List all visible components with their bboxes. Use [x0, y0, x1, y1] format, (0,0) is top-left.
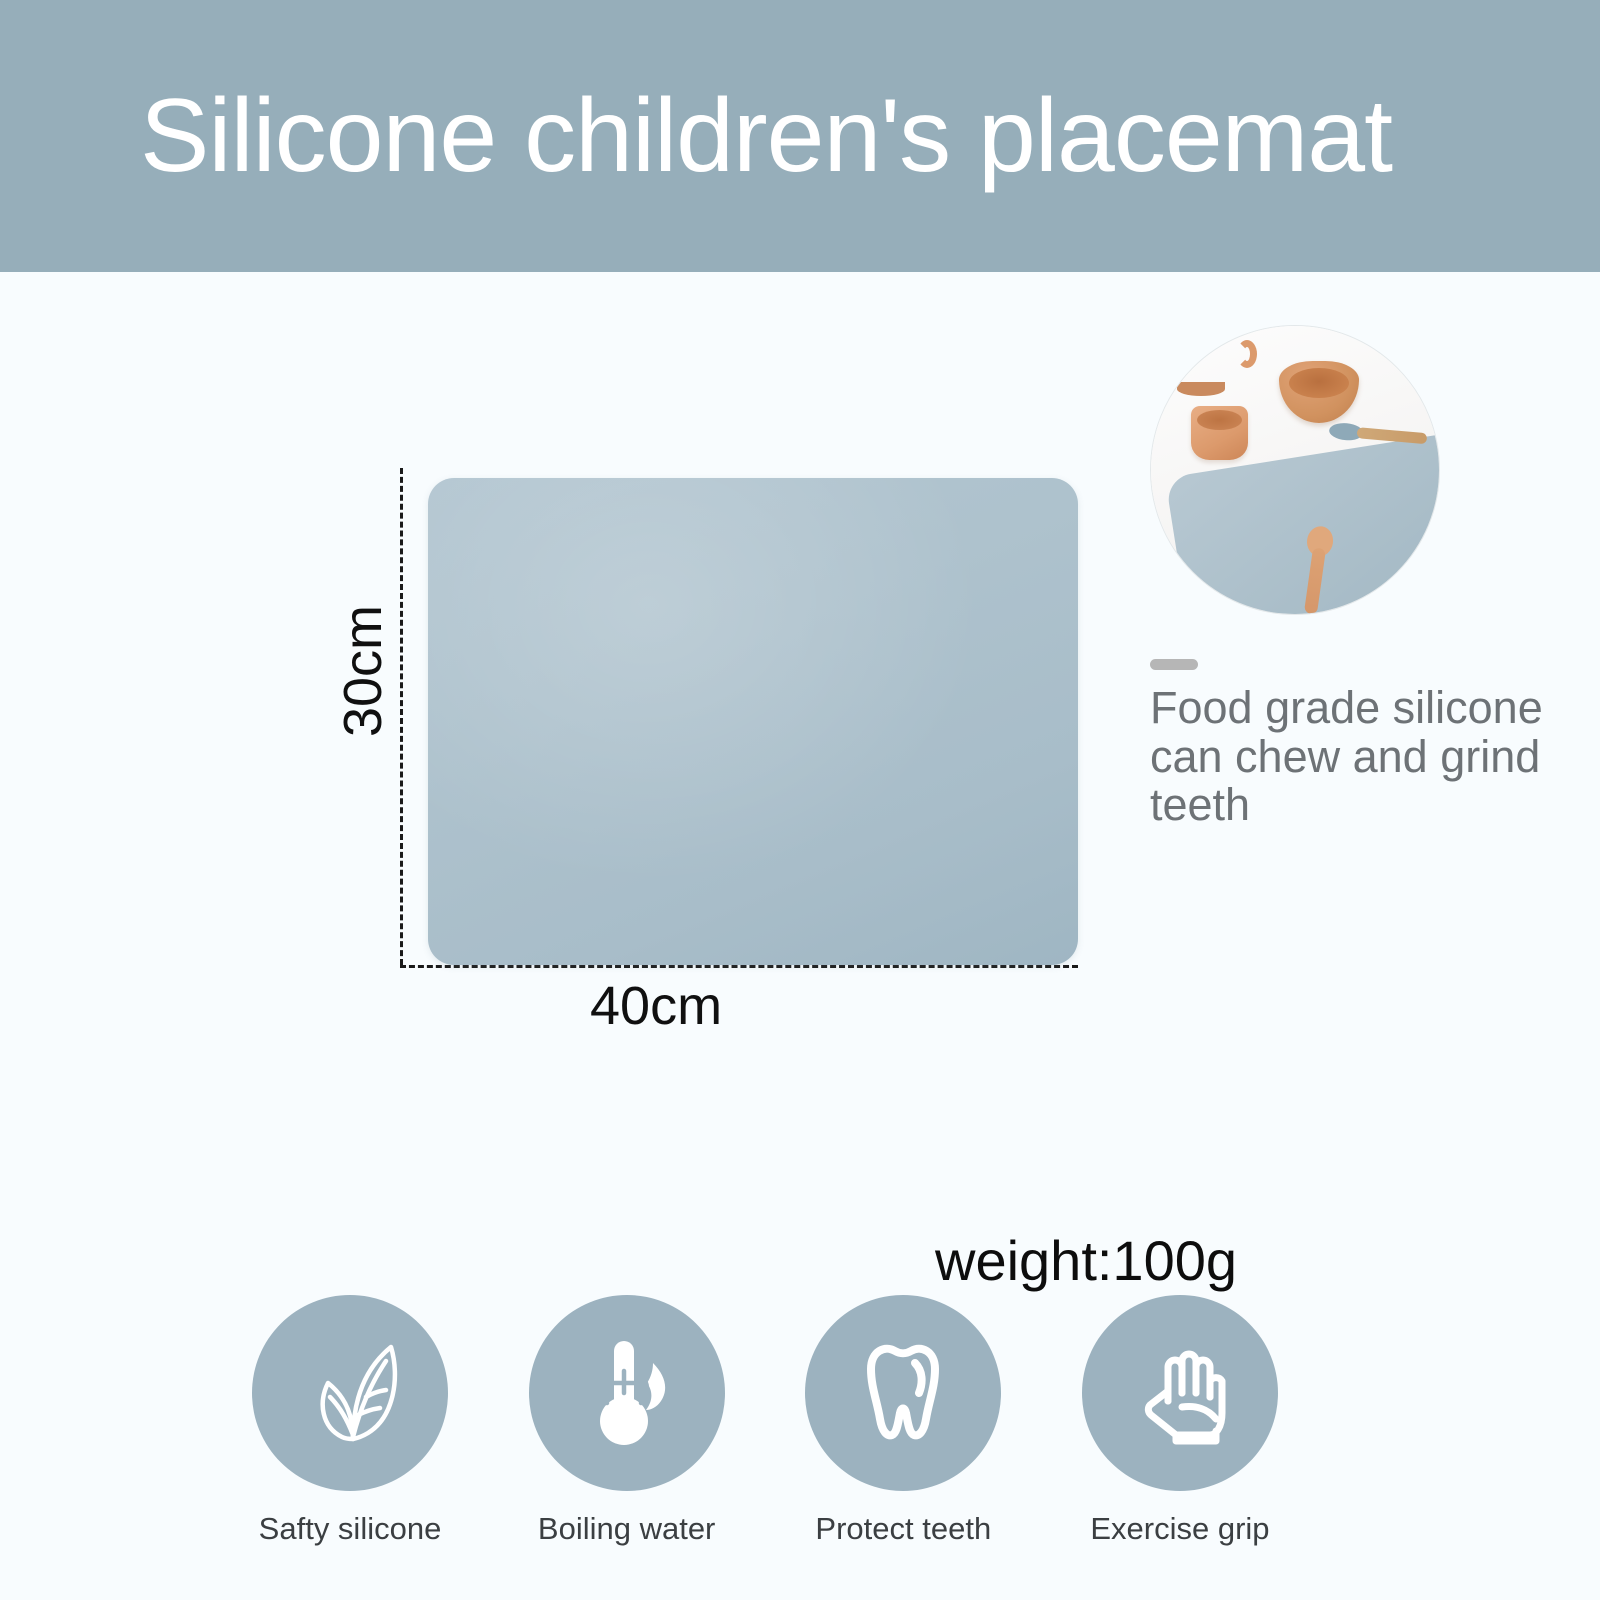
feature-item-boiling-water: Boiling water: [527, 1295, 727, 1585]
feature-circle: [805, 1295, 1001, 1491]
photo-cup-handle-right: [1237, 340, 1257, 368]
thermometer-flame-icon: [567, 1331, 687, 1456]
feature-label: Protect teeth: [815, 1511, 991, 1547]
dimension-line-vertical: [400, 468, 403, 965]
feature-item-safty-silicone: Safty silicone: [250, 1295, 450, 1585]
dimension-width-label: 40cm: [590, 975, 722, 1037]
page-title: Silicone children's placemat: [140, 84, 1392, 188]
tooth-icon: [843, 1331, 963, 1456]
dimension-line-horizontal: [400, 965, 1078, 968]
hand-icon: [1120, 1331, 1240, 1456]
photo-spoon-peach-handle: [1304, 547, 1326, 614]
feature-circle: [1082, 1295, 1278, 1491]
feature-circle: [529, 1295, 725, 1491]
callout-description: Food grade silicone can chew and grind t…: [1150, 684, 1550, 830]
callout-dash-marker: [1150, 659, 1198, 670]
feature-row: Safty silicone: [250, 1295, 1280, 1585]
product-placemat-image: [428, 478, 1078, 965]
feature-callout: Food grade silicone can chew and grind t…: [1150, 325, 1550, 830]
feature-label: Exercise grip: [1090, 1511, 1269, 1547]
photo-cup-handle-left: [1174, 340, 1194, 368]
feature-circle: [252, 1295, 448, 1491]
dimension-height-label: 30cm: [332, 576, 394, 766]
lifestyle-photo: [1150, 325, 1440, 615]
photo-cup-inner: [1197, 410, 1242, 430]
feature-label: Boiling water: [538, 1511, 715, 1547]
weight-label: weight:100g: [935, 1228, 1237, 1293]
leaf-icon: [290, 1331, 410, 1456]
placemat-dimension-figure: 30cm 40cm: [330, 440, 1110, 1060]
feature-item-exercise-grip: Exercise grip: [1080, 1295, 1280, 1585]
feature-item-protect-teeth: Protect teeth: [803, 1295, 1003, 1585]
placemat-sheen: [428, 478, 1078, 965]
photo-bowl-inner: [1289, 368, 1349, 398]
photo-cup: [1191, 406, 1248, 460]
feature-label: Safty silicone: [259, 1511, 442, 1547]
photo-bowl-base: [1177, 382, 1225, 396]
header-band: Silicone children's placemat: [0, 0, 1600, 272]
